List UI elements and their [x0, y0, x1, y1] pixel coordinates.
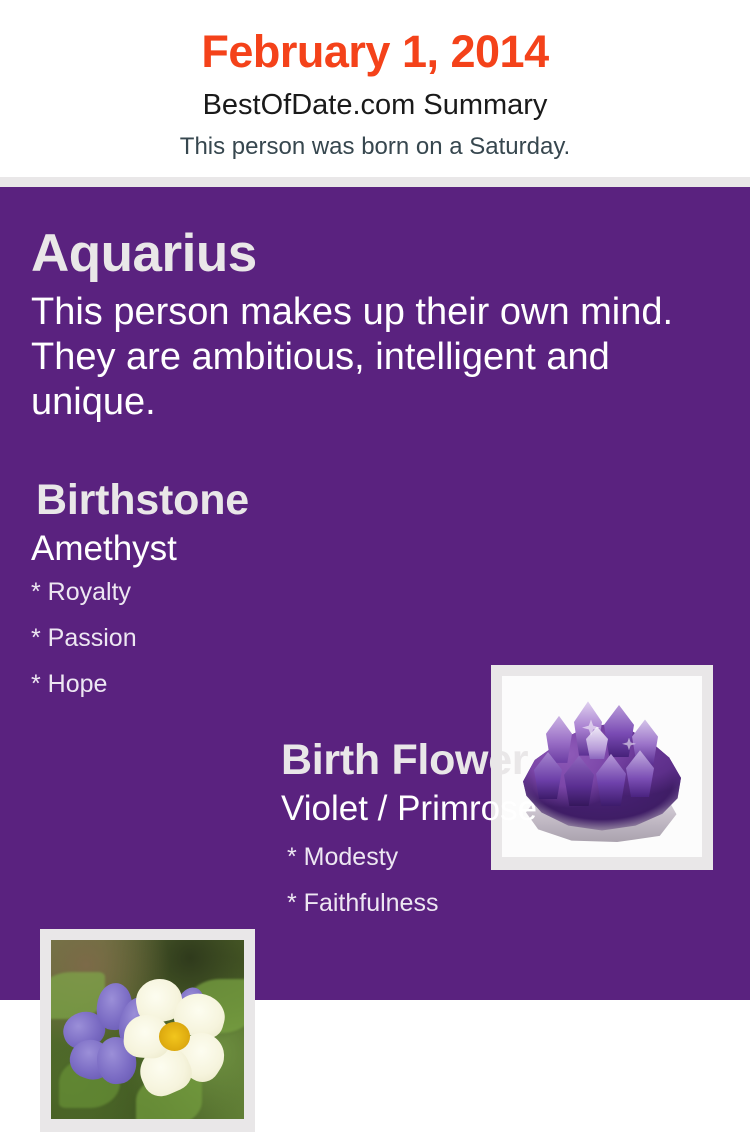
birthstone-trait-list: * Royalty * Passion * Hope: [31, 566, 471, 718]
summary-panel: Aquarius This person makes up their own …: [0, 187, 750, 1000]
birthstone-section: Birthstone Amethyst * Royalty * Passion …: [31, 479, 471, 718]
site-subtitle: BestOfDate.com Summary: [0, 74, 750, 120]
birth-flower-heading: Birth Flower: [281, 739, 731, 782]
page-title: February 1, 2014: [0, 0, 750, 74]
birthstone-name: Amethyst: [31, 522, 471, 566]
list-item: * Faithfulness: [287, 891, 731, 937]
birth-flower-trait-list: * Modesty * Faithfulness: [281, 826, 731, 937]
page-header: February 1, 2014 BestOfDate.com Summary …: [0, 0, 750, 177]
list-item: * Royalty: [31, 580, 471, 626]
violet-primrose-icon: [51, 940, 244, 1119]
birth-flower-name: Violet / Primrose: [281, 782, 731, 826]
header-divider: [0, 177, 750, 187]
birth-flower-image-frame: [40, 929, 255, 1132]
birth-day-statement: This person was born on a Saturday.: [0, 120, 750, 159]
list-item: * Passion: [31, 626, 471, 672]
zodiac-description: This person makes up their own mind. The…: [31, 280, 681, 424]
zodiac-sign-name: Aquarius: [31, 227, 691, 280]
birth-flower-section: Birth Flower Violet / Primrose * Modesty…: [281, 739, 731, 937]
birthstone-heading: Birthstone: [31, 479, 471, 522]
primrose-center: [159, 1022, 190, 1051]
list-item: * Hope: [31, 672, 471, 718]
list-item: * Modesty: [287, 845, 731, 891]
zodiac-section: Aquarius This person makes up their own …: [31, 227, 691, 424]
